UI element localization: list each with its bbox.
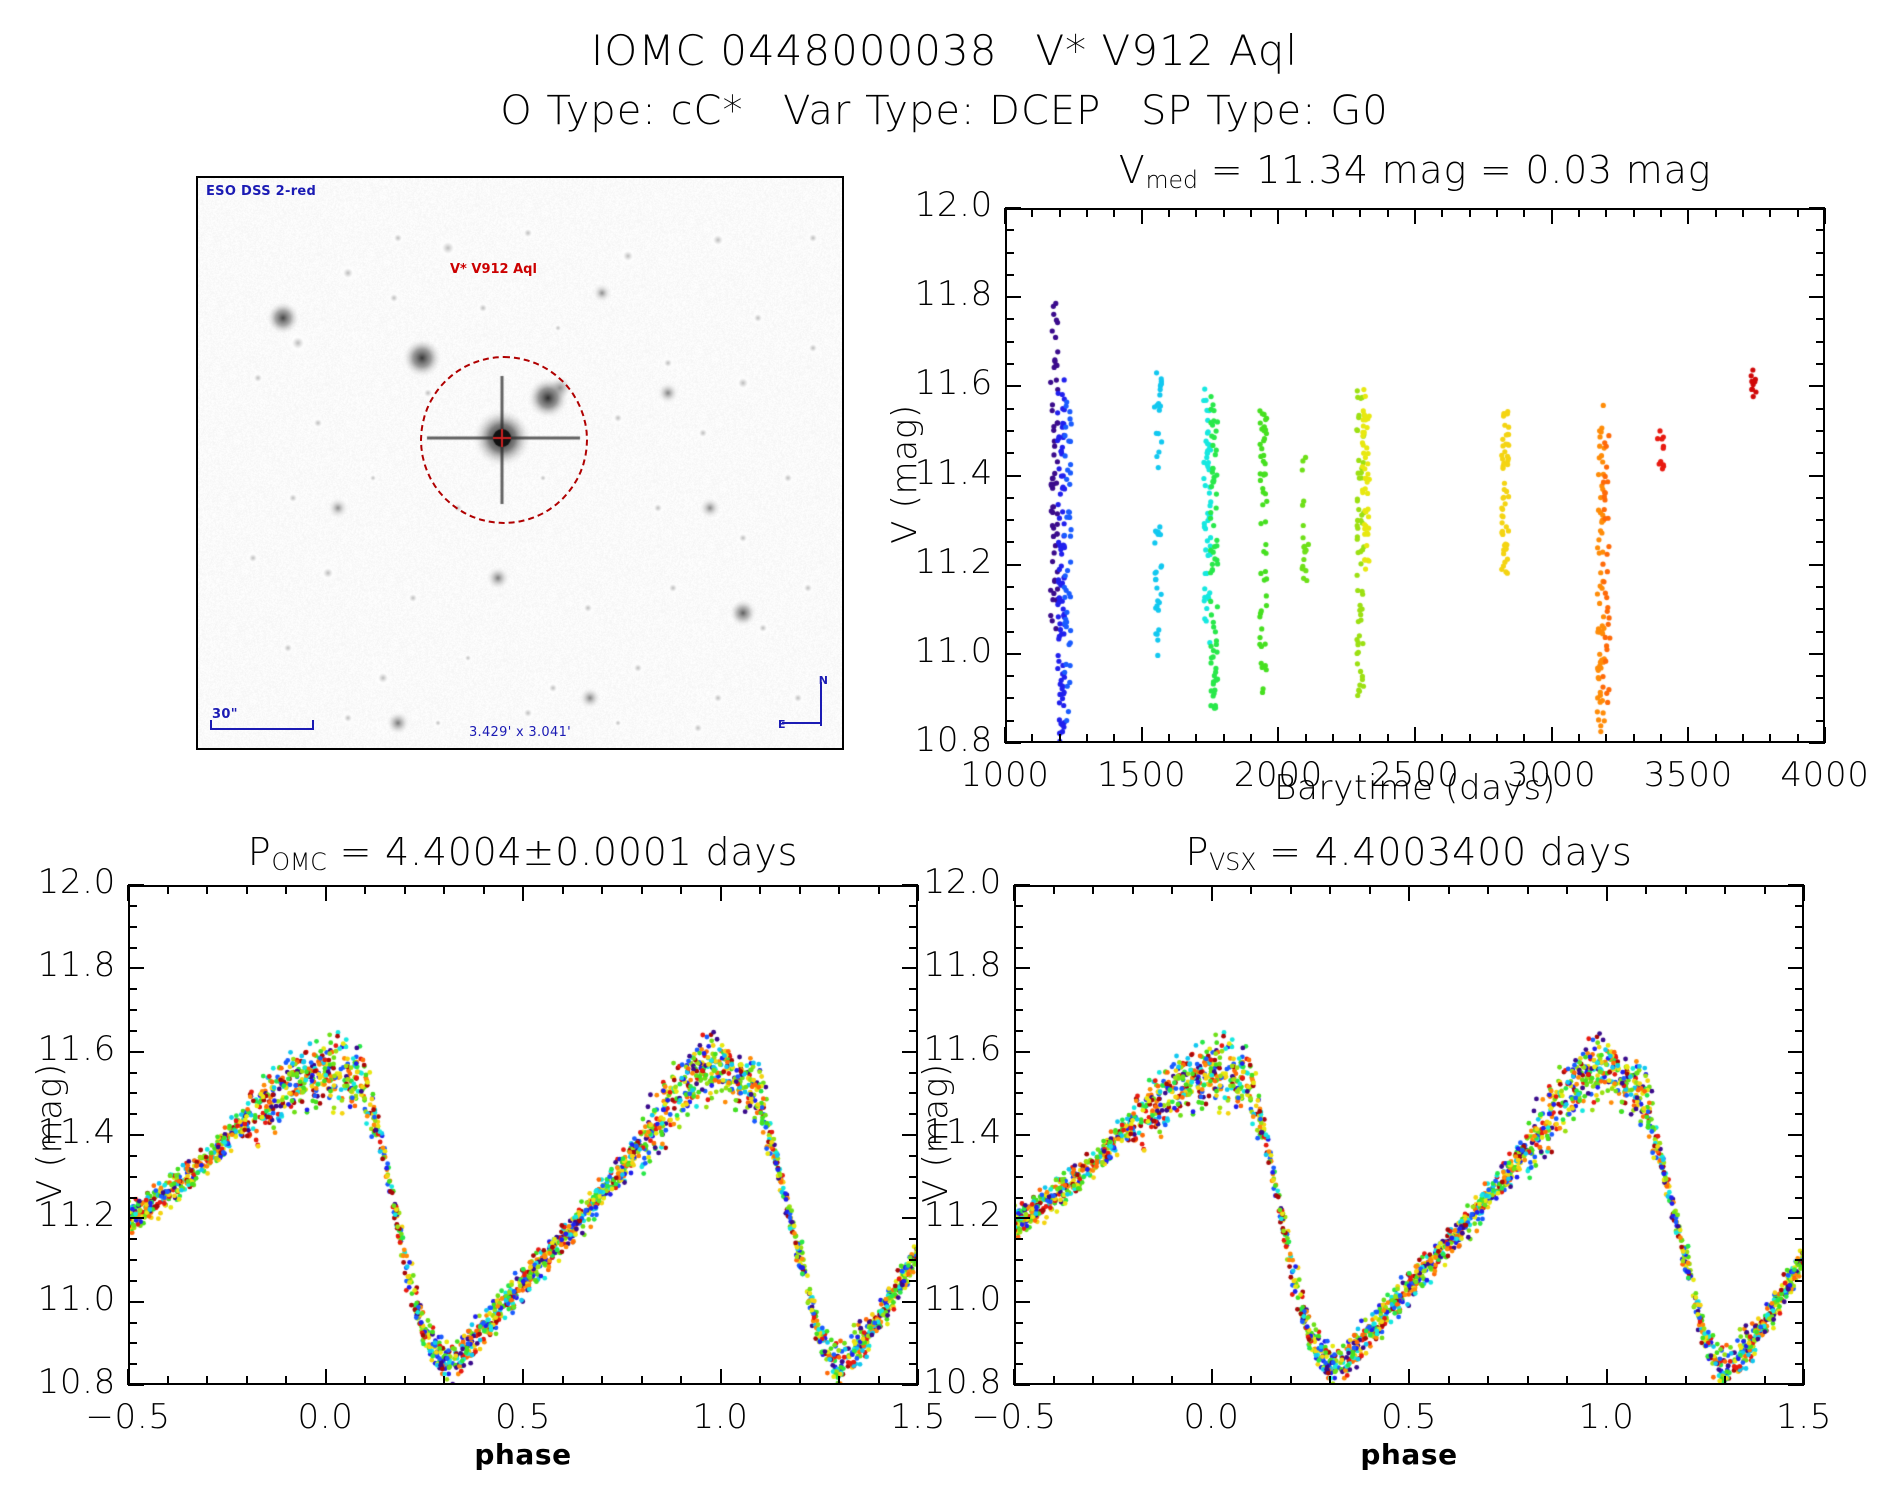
x-tick-minor bbox=[878, 1376, 880, 1385]
x-tick-major bbox=[720, 885, 722, 901]
y-tick-minor bbox=[128, 1322, 137, 1324]
y-tick-minor bbox=[909, 1342, 918, 1344]
y-tick-major bbox=[1005, 564, 1021, 566]
y-tick-minor bbox=[128, 1363, 137, 1365]
plot-area-phase-vsx bbox=[1014, 885, 1804, 1385]
x-tick-major bbox=[1211, 1369, 1213, 1385]
y-tick-minor bbox=[1816, 252, 1825, 254]
y-tick-major bbox=[1005, 742, 1021, 744]
x-tick-label: −0.5 bbox=[28, 1397, 228, 1437]
y-tick-minor bbox=[1014, 1259, 1023, 1261]
x-tick-minor bbox=[206, 885, 208, 894]
x-tick-minor bbox=[1469, 734, 1471, 743]
x-tick-minor bbox=[838, 885, 840, 894]
x-tick-minor bbox=[1469, 208, 1471, 217]
y-tick-minor bbox=[1005, 341, 1014, 343]
x-tick-major bbox=[127, 1369, 129, 1385]
y-tick-minor bbox=[1014, 1342, 1023, 1344]
x-tick-major bbox=[1013, 885, 1015, 901]
x-tick-minor bbox=[1578, 208, 1580, 217]
x-tick-minor bbox=[1715, 208, 1717, 217]
period-symbol: PVSX bbox=[1185, 830, 1256, 874]
y-tick-major bbox=[1809, 296, 1825, 298]
x-tick-minor bbox=[1605, 208, 1607, 217]
x-tick-minor bbox=[1250, 1376, 1252, 1385]
y-tick-minor bbox=[909, 988, 918, 990]
compass-east-label: E bbox=[778, 718, 786, 731]
y-tick-minor bbox=[1795, 1280, 1804, 1282]
scatter-canvas-lightcurve-time bbox=[1007, 210, 1823, 741]
x-tick-minor bbox=[1053, 1376, 1055, 1385]
y-tick-label: 10.8 bbox=[0, 1362, 116, 1402]
x-tick-minor bbox=[483, 885, 485, 894]
y-tick-minor bbox=[1014, 1280, 1023, 1282]
star-name: V* V912 Aql bbox=[1035, 26, 1298, 75]
x-tick-minor bbox=[759, 885, 761, 894]
x-tick-major bbox=[1824, 208, 1826, 224]
x-tick-label: 1.0 bbox=[621, 1397, 821, 1437]
x-tick-minor bbox=[1769, 734, 1771, 743]
y-tick-minor bbox=[1005, 720, 1014, 722]
y-tick-minor bbox=[128, 1342, 137, 1344]
x-tick-minor bbox=[1566, 1376, 1568, 1385]
x-tick-major bbox=[522, 1369, 524, 1385]
scale-bar bbox=[210, 728, 314, 730]
y-tick-label: 11.0 bbox=[882, 1279, 1002, 1319]
y-tick-minor bbox=[1816, 430, 1825, 432]
y-tick-minor bbox=[1014, 1238, 1023, 1240]
y-tick-minor bbox=[1014, 1030, 1023, 1032]
x-tick-minor bbox=[1448, 1376, 1450, 1385]
y-tick-minor bbox=[1005, 408, 1014, 410]
y-tick-major bbox=[1014, 1384, 1030, 1386]
x-tick-major bbox=[1803, 1369, 1805, 1385]
x-tick-minor bbox=[1290, 885, 1292, 894]
y-tick-minor bbox=[1816, 720, 1825, 722]
x-tick-major bbox=[1551, 727, 1553, 743]
y-tick-major bbox=[1788, 1384, 1804, 1386]
x-tick-minor bbox=[1059, 208, 1061, 217]
x-tick-minor bbox=[1369, 1376, 1371, 1385]
x-tick-label: 0.5 bbox=[423, 1397, 623, 1437]
x-tick-label: 0.5 bbox=[1309, 1397, 1509, 1437]
x-tick-minor bbox=[1764, 885, 1766, 894]
iomc-id: IOMC 0448000038 bbox=[591, 26, 998, 75]
y-tick-minor bbox=[909, 905, 918, 907]
x-tick-minor bbox=[1633, 734, 1635, 743]
y-tick-minor bbox=[1816, 408, 1825, 410]
y-tick-minor bbox=[1014, 1197, 1023, 1199]
scatter-canvas-phase-omc bbox=[130, 887, 916, 1383]
y-tick-major bbox=[1809, 207, 1825, 209]
y-tick-minor bbox=[1014, 988, 1023, 990]
y-tick-minor bbox=[1795, 1322, 1804, 1324]
y-tick-minor bbox=[1795, 988, 1804, 990]
y-axis-label-phase-vsx: V (mag) bbox=[916, 1003, 956, 1263]
x-tick-major bbox=[1141, 208, 1143, 224]
x-tick-minor bbox=[601, 885, 603, 894]
x-tick-minor bbox=[1053, 885, 1055, 894]
x-tick-minor bbox=[1250, 885, 1252, 894]
x-tick-minor bbox=[1605, 734, 1607, 743]
x-tick-minor bbox=[1448, 885, 1450, 894]
x-tick-minor bbox=[1797, 734, 1799, 743]
y-tick-minor bbox=[128, 988, 137, 990]
sp-type-label: SP Type: bbox=[1141, 88, 1317, 134]
x-tick-minor bbox=[1223, 208, 1225, 217]
x-tick-major bbox=[1687, 208, 1689, 224]
x-tick-minor bbox=[364, 1376, 366, 1385]
x-tick-minor bbox=[1645, 1376, 1647, 1385]
x-tick-minor bbox=[246, 885, 248, 894]
x-tick-major bbox=[127, 885, 129, 901]
x-tick-minor bbox=[562, 1376, 564, 1385]
y-tick-minor bbox=[1795, 905, 1804, 907]
x-tick-minor bbox=[1332, 734, 1334, 743]
x-tick-minor bbox=[1059, 734, 1061, 743]
y-tick-major bbox=[1005, 385, 1021, 387]
y-tick-minor bbox=[1816, 341, 1825, 343]
y-tick-major bbox=[128, 1384, 144, 1386]
y-tick-minor bbox=[1816, 274, 1825, 276]
x-tick-minor bbox=[443, 1376, 445, 1385]
y-tick-minor bbox=[128, 1030, 137, 1032]
y-tick-label: 11.8 bbox=[873, 274, 993, 314]
x-tick-minor bbox=[799, 1376, 801, 1385]
period-text: = 4.4004±0.0001 days bbox=[327, 830, 799, 874]
y-tick-minor bbox=[128, 1238, 137, 1240]
x-tick-minor bbox=[838, 1376, 840, 1385]
x-tick-minor bbox=[1171, 1376, 1173, 1385]
y-tick-major bbox=[1809, 385, 1825, 387]
y-tick-minor bbox=[1816, 452, 1825, 454]
x-tick-minor bbox=[1092, 1376, 1094, 1385]
y-tick-minor bbox=[1816, 318, 1825, 320]
y-tick-minor bbox=[1795, 1072, 1804, 1074]
y-tick-minor bbox=[1014, 1176, 1023, 1178]
x-tick-major bbox=[325, 1369, 327, 1385]
y-tick-minor bbox=[1014, 947, 1023, 949]
y-tick-minor bbox=[909, 1322, 918, 1324]
x-tick-minor bbox=[680, 885, 682, 894]
x-tick-minor bbox=[1223, 734, 1225, 743]
x-tick-major bbox=[522, 885, 524, 901]
x-tick-major bbox=[1408, 885, 1410, 901]
y-tick-minor bbox=[1795, 1030, 1804, 1032]
x-tick-minor bbox=[1566, 885, 1568, 894]
y-tick-major bbox=[128, 967, 144, 969]
y-tick-minor bbox=[1795, 1342, 1804, 1344]
x-tick-major bbox=[1141, 727, 1143, 743]
x-tick-label: 1.0 bbox=[1507, 1397, 1707, 1437]
compass-rose-icon: N E bbox=[780, 676, 832, 732]
y-tick-label: 12.0 bbox=[882, 862, 1002, 902]
x-tick-minor bbox=[1487, 1376, 1489, 1385]
x-tick-minor bbox=[167, 1376, 169, 1385]
var-type-label: Var Type: bbox=[783, 88, 975, 134]
y-tick-minor bbox=[128, 947, 137, 949]
y-tick-minor bbox=[128, 1092, 137, 1094]
y-tick-major bbox=[1014, 1301, 1030, 1303]
x-tick-major bbox=[1606, 885, 1608, 901]
y-tick-minor bbox=[1005, 519, 1014, 521]
x-tick-major bbox=[1414, 208, 1416, 224]
y-tick-minor bbox=[1005, 697, 1014, 699]
y-tick-minor bbox=[128, 1259, 137, 1261]
x-tick-minor bbox=[680, 1376, 682, 1385]
y-tick-minor bbox=[1816, 363, 1825, 365]
x-tick-minor bbox=[285, 1376, 287, 1385]
y-tick-major bbox=[1014, 1217, 1030, 1219]
scatter-canvas-phase-vsx bbox=[1016, 887, 1802, 1383]
x-tick-minor bbox=[1387, 208, 1389, 217]
x-tick-minor bbox=[1496, 208, 1498, 217]
x-tick-minor bbox=[1441, 734, 1443, 743]
y-tick-minor bbox=[1816, 229, 1825, 231]
y-tick-label: 11.0 bbox=[873, 631, 993, 671]
y-tick-minor bbox=[1014, 1113, 1023, 1115]
x-tick-minor bbox=[1496, 734, 1498, 743]
chart-title-phase-vsx: PVSX = 4.4003400 days bbox=[1014, 830, 1804, 876]
y-tick-major bbox=[1005, 475, 1021, 477]
y-tick-label: 12.0 bbox=[0, 862, 116, 902]
period-text: = 4.4003400 days bbox=[1256, 830, 1632, 874]
x-tick-minor bbox=[404, 1376, 406, 1385]
x-tick-minor bbox=[759, 1376, 761, 1385]
x-tick-minor bbox=[1797, 208, 1799, 217]
x-tick-minor bbox=[1168, 208, 1170, 217]
y-tick-minor bbox=[1816, 697, 1825, 699]
y-tick-major bbox=[1788, 967, 1804, 969]
y-tick-minor bbox=[1816, 675, 1825, 677]
y-tick-major bbox=[1005, 207, 1021, 209]
y-tick-minor bbox=[1005, 675, 1014, 677]
x-tick-minor bbox=[1523, 208, 1525, 217]
y-tick-major bbox=[1014, 967, 1030, 969]
y-tick-minor bbox=[1795, 1238, 1804, 1240]
y-tick-minor bbox=[1005, 608, 1014, 610]
x-tick-major bbox=[720, 1369, 722, 1385]
y-tick-minor bbox=[1005, 363, 1014, 365]
x-tick-minor bbox=[1633, 208, 1635, 217]
plot-area-lightcurve-time bbox=[1005, 208, 1825, 743]
y-axis-label-lightcurve-time: V (mag) bbox=[885, 344, 925, 604]
y-tick-label: 10.8 bbox=[873, 720, 993, 760]
y-tick-minor bbox=[1005, 229, 1014, 231]
vmed-text: = 11.34 mag = 0.03 mag bbox=[1198, 148, 1711, 192]
x-tick-minor bbox=[1113, 734, 1115, 743]
y-tick-minor bbox=[1795, 1092, 1804, 1094]
y-tick-minor bbox=[1816, 497, 1825, 499]
x-tick-minor bbox=[1250, 208, 1252, 217]
y-tick-minor bbox=[1014, 1155, 1023, 1157]
x-tick-major bbox=[1004, 208, 1006, 224]
sp-type-value: G0 bbox=[1330, 88, 1388, 134]
y-tick-minor bbox=[1014, 1363, 1023, 1365]
x-tick-label: 1.5 bbox=[1704, 1397, 1889, 1437]
x-tick-minor bbox=[1290, 1376, 1292, 1385]
x-tick-minor bbox=[1195, 734, 1197, 743]
x-tick-minor bbox=[641, 885, 643, 894]
y-tick-label: 11.8 bbox=[0, 945, 116, 985]
object-type-line: O Type: cC* Var Type: DCEP SP Type: G0 bbox=[0, 88, 1889, 134]
page-title: IOMC 0448000038V* V912 Aql bbox=[0, 26, 1889, 75]
x-tick-minor bbox=[1250, 734, 1252, 743]
y-tick-minor bbox=[128, 1280, 137, 1282]
scale-bar-label: 30" bbox=[212, 707, 238, 722]
y-tick-minor bbox=[1795, 1176, 1804, 1178]
x-tick-minor bbox=[1387, 734, 1389, 743]
x-tick-major bbox=[1551, 208, 1553, 224]
y-tick-minor bbox=[128, 1072, 137, 1074]
photometric-aperture-circle bbox=[420, 356, 588, 524]
y-tick-minor bbox=[1795, 1259, 1804, 1261]
compass-east-arrow bbox=[782, 722, 822, 724]
y-tick-major bbox=[1005, 296, 1021, 298]
x-tick-minor bbox=[1305, 208, 1307, 217]
y-tick-major bbox=[1809, 564, 1825, 566]
x-tick-minor bbox=[364, 885, 366, 894]
y-tick-major bbox=[1005, 653, 1021, 655]
survey-label: ESO DSS 2-red bbox=[206, 184, 316, 199]
y-tick-minor bbox=[1005, 631, 1014, 633]
x-tick-major bbox=[1687, 727, 1689, 743]
y-tick-minor bbox=[1014, 905, 1023, 907]
o-type-label: O Type: bbox=[500, 88, 657, 134]
x-tick-minor bbox=[1132, 885, 1134, 894]
x-tick-minor bbox=[1487, 885, 1489, 894]
field-of-view-label: 3.429' x 3.041' bbox=[469, 725, 571, 740]
y-tick-major bbox=[128, 884, 144, 886]
x-tick-major bbox=[1004, 727, 1006, 743]
y-tick-major bbox=[128, 1301, 144, 1303]
x-axis-label-phase-omc: phase bbox=[128, 1438, 918, 1471]
x-tick-major bbox=[1824, 727, 1826, 743]
sky-finding-chart: ESO DSS 2-red V* V912 Aql 30" 3.429' x 3… bbox=[196, 176, 844, 750]
x-tick-minor bbox=[1132, 1376, 1134, 1385]
x-tick-major bbox=[1803, 885, 1805, 901]
x-tick-minor bbox=[1359, 208, 1361, 217]
y-tick-minor bbox=[128, 1176, 137, 1178]
x-tick-minor bbox=[1578, 734, 1580, 743]
x-tick-minor bbox=[167, 885, 169, 894]
y-tick-minor bbox=[1795, 926, 1804, 928]
x-axis-label-phase-vsx: phase bbox=[1014, 1438, 1804, 1471]
y-tick-label: 10.8 bbox=[882, 1362, 1002, 1402]
x-tick-minor bbox=[1660, 734, 1662, 743]
x-tick-minor bbox=[1715, 734, 1717, 743]
y-tick-minor bbox=[128, 905, 137, 907]
x-tick-label: −0.5 bbox=[914, 1397, 1114, 1437]
x-tick-major bbox=[1211, 885, 1213, 901]
plot-area-phase-omc bbox=[128, 885, 918, 1385]
x-tick-minor bbox=[1092, 885, 1094, 894]
x-tick-major bbox=[1277, 208, 1279, 224]
y-tick-major bbox=[128, 1051, 144, 1053]
x-tick-minor bbox=[443, 885, 445, 894]
x-tick-label: 0.0 bbox=[226, 1397, 426, 1437]
y-tick-minor bbox=[128, 1113, 137, 1115]
x-tick-major bbox=[1414, 727, 1416, 743]
y-tick-minor bbox=[1005, 452, 1014, 454]
x-tick-minor bbox=[1764, 1376, 1766, 1385]
x-tick-minor bbox=[562, 885, 564, 894]
y-tick-minor bbox=[1005, 430, 1014, 432]
x-tick-minor bbox=[285, 885, 287, 894]
x-tick-minor bbox=[404, 885, 406, 894]
y-tick-minor bbox=[1795, 1363, 1804, 1365]
y-tick-minor bbox=[1816, 631, 1825, 633]
y-tick-minor bbox=[1816, 608, 1825, 610]
target-star-label: V* V912 Aql bbox=[450, 262, 537, 277]
var-type-value: DCEP bbox=[989, 88, 1101, 134]
x-tick-minor bbox=[483, 1376, 485, 1385]
y-tick-minor bbox=[1816, 586, 1825, 588]
y-tick-major bbox=[1014, 1134, 1030, 1136]
y-tick-major bbox=[1788, 1051, 1804, 1053]
chart-title-phase-omc: POMC = 4.4004±0.0001 days bbox=[128, 830, 918, 876]
y-tick-minor bbox=[1816, 519, 1825, 521]
x-tick-minor bbox=[1523, 734, 1525, 743]
y-tick-minor bbox=[1005, 252, 1014, 254]
x-tick-minor bbox=[1332, 208, 1334, 217]
y-tick-minor bbox=[128, 1155, 137, 1157]
y-tick-minor bbox=[1014, 1009, 1023, 1011]
x-tick-minor bbox=[1769, 208, 1771, 217]
y-tick-major bbox=[128, 1217, 144, 1219]
y-tick-minor bbox=[128, 1009, 137, 1011]
x-tick-minor bbox=[1031, 734, 1033, 743]
x-tick-minor bbox=[1113, 208, 1115, 217]
y-tick-minor bbox=[1005, 274, 1014, 276]
x-tick-minor bbox=[1171, 885, 1173, 894]
x-tick-minor bbox=[1168, 734, 1170, 743]
y-tick-minor bbox=[1795, 947, 1804, 949]
y-tick-minor bbox=[1005, 318, 1014, 320]
x-tick-minor bbox=[1742, 734, 1744, 743]
y-tick-major bbox=[1788, 1134, 1804, 1136]
x-tick-minor bbox=[1527, 885, 1529, 894]
compass-north-arrow bbox=[820, 682, 822, 726]
y-tick-minor bbox=[1795, 1009, 1804, 1011]
x-tick-minor bbox=[1086, 734, 1088, 743]
x-tick-major bbox=[1606, 1369, 1608, 1385]
y-tick-minor bbox=[128, 926, 137, 928]
y-tick-minor bbox=[1005, 541, 1014, 543]
x-tick-major bbox=[1408, 1369, 1410, 1385]
y-tick-major bbox=[1014, 884, 1030, 886]
x-tick-minor bbox=[1685, 885, 1687, 894]
x-tick-minor bbox=[1329, 885, 1331, 894]
y-tick-minor bbox=[1795, 1113, 1804, 1115]
x-tick-label: 0.0 bbox=[1112, 1397, 1312, 1437]
vmed-symbol: Vmed bbox=[1119, 148, 1198, 192]
x-tick-minor bbox=[1031, 208, 1033, 217]
y-tick-minor bbox=[1005, 497, 1014, 499]
x-tick-minor bbox=[1441, 208, 1443, 217]
y-tick-major bbox=[1788, 884, 1804, 886]
x-tick-minor bbox=[1724, 1376, 1726, 1385]
x-tick-minor bbox=[1195, 208, 1197, 217]
x-tick-minor bbox=[206, 1376, 208, 1385]
y-tick-major bbox=[1014, 1051, 1030, 1053]
x-tick-minor bbox=[1660, 208, 1662, 217]
y-axis-label-phase-omc: V (mag) bbox=[30, 1003, 70, 1263]
x-tick-minor bbox=[1685, 1376, 1687, 1385]
x-tick-minor bbox=[1086, 208, 1088, 217]
x-tick-minor bbox=[641, 1376, 643, 1385]
x-tick-major bbox=[325, 885, 327, 901]
